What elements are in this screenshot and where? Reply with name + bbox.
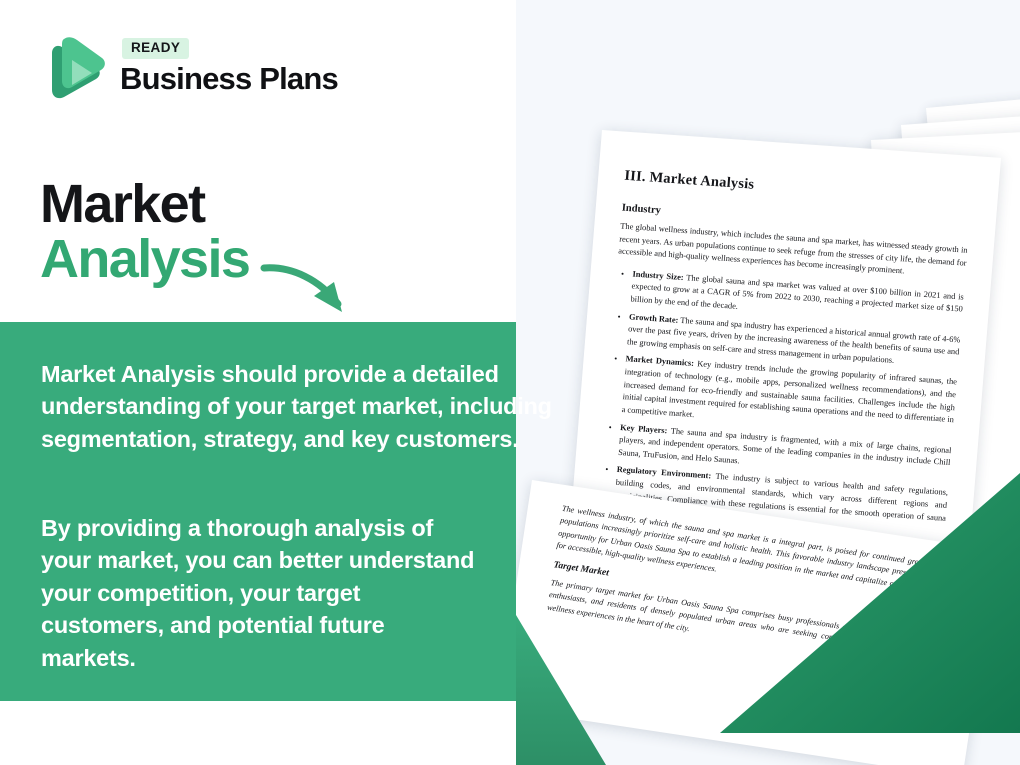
description-paragraph-1: Market Analysis should provide a detaile… xyxy=(41,358,553,455)
ready-badge: READY xyxy=(122,38,189,59)
slide-canvas: READY Business Plans Market Analysis Mar… xyxy=(0,0,1020,765)
bullet-text: Key industry trends include the growing … xyxy=(621,359,957,424)
play-triangle-logo-icon xyxy=(42,33,106,101)
document-heading: III. Market Analysis xyxy=(624,168,973,209)
page-title-line-2: Analysis xyxy=(40,233,249,286)
page-title-line-1: Market xyxy=(40,178,249,231)
bullet-label: Growth Rate: xyxy=(629,312,679,324)
description-band: Market Analysis should provide a detaile… xyxy=(0,322,516,701)
document-stack: III. Market Analysis Industry The global… xyxy=(516,0,1020,765)
bullet-label: Industry Size: xyxy=(632,269,684,282)
brand-logo-lockup[interactable]: READY Business Plans xyxy=(42,33,338,101)
bullet-label: Market Dynamics: xyxy=(625,355,694,369)
brand-name: Business Plans xyxy=(120,62,338,96)
description-paragraph-2: By providing a thorough analysis of your… xyxy=(41,512,481,674)
brand-text-block: READY Business Plans xyxy=(120,38,338,96)
bullet-label: Key Players: xyxy=(620,423,668,435)
page-title: Market Analysis xyxy=(40,178,249,286)
